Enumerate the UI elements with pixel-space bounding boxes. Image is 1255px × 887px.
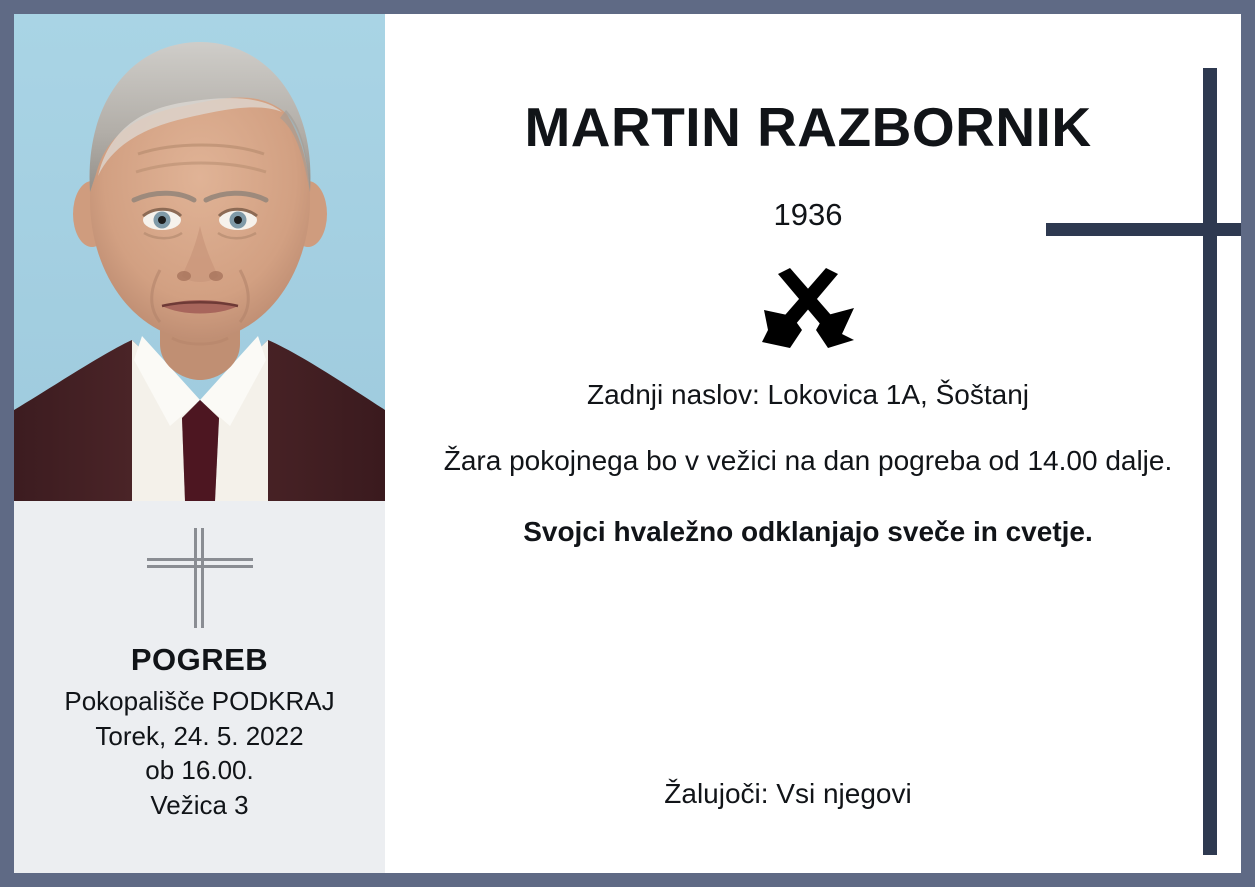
funeral-date: Torek, 24. 5. 2022 [14,719,385,754]
deceased-name: MARTIN RAZBORNIK [385,100,1231,155]
small-cross-icon [14,522,385,632]
mourners-line: Žalujoči: Vsi njegovi [385,778,1191,810]
funeral-chapel: Vežica 3 [14,788,385,823]
funeral-details: POGREB Pokopališče PODKRAJ Torek, 24. 5.… [14,642,385,822]
miner-emblem-glyph [758,268,858,350]
funeral-heading: POGREB [14,642,385,678]
birth-year: 1936 [385,199,1231,230]
cross-glyph [141,524,259,630]
crossed-hammer-and-pick-icon [385,268,1231,350]
portrait-illustration [14,14,385,501]
flowers-candles-notice: Svojci hvaležno odklanjajo sveče in cvet… [385,515,1231,549]
funeral-cemetery: Pokopališče PODKRAJ [14,684,385,719]
funeral-time: ob 16.00. [14,753,385,788]
urn-info: Žara pokojnega bo v vežici na dan pogreb… [385,441,1231,482]
last-address: Zadnji naslov: Lokovica 1A, Šoštanj [385,378,1231,412]
main-content: MARTIN RAZBORNIK 1936 Zadnji [385,14,1231,549]
main-panel: MARTIN RAZBORNIK 1936 Zadnji [385,14,1241,873]
left-panel: POGREB Pokopališče PODKRAJ Torek, 24. 5.… [14,14,385,873]
portrait-photo [14,14,385,501]
obituary-notice: POGREB Pokopališče PODKRAJ Torek, 24. 5.… [0,0,1255,887]
